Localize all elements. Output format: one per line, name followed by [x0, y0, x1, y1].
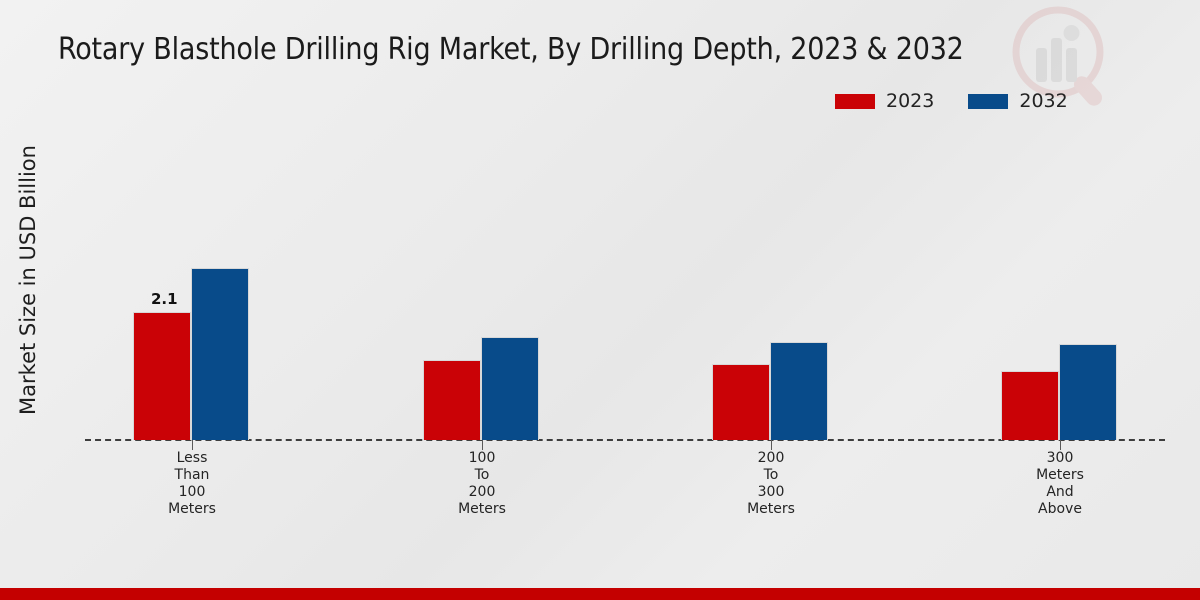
category-label-0-line-2: 100 [117, 484, 267, 501]
chart-figure: Rotary Blasthole Drilling Rig Market, By… [0, 0, 1200, 600]
bar-2032-cat2[interactable] [770, 342, 828, 440]
axis-tick-3 [1060, 440, 1061, 450]
category-label-3-line-2: And [985, 484, 1135, 501]
category-label-2-line-3: Meters [696, 501, 846, 518]
category-label-1-line-1: To [407, 467, 557, 484]
category-label-1-line-0: 100 [407, 450, 557, 467]
category-label-1-line-3: Meters [407, 501, 557, 518]
bars-container [712, 342, 828, 440]
category-label-2-line-1: To [696, 467, 846, 484]
axis-tick-1 [482, 440, 483, 450]
category-label-3: 300 Meters And Above [985, 450, 1135, 518]
axis-tick-0 [192, 440, 193, 450]
bar-2032-cat0[interactable] [191, 268, 249, 440]
category-label-3-line-3: Above [985, 501, 1135, 518]
category-label-0-line-1: Than [117, 467, 267, 484]
category-label-2-line-0: 200 [696, 450, 846, 467]
category-label-3-line-1: Meters [985, 467, 1135, 484]
category-label-0: Less Than 100 Meters [117, 450, 267, 518]
bars-container [423, 337, 539, 440]
axis-tick-2 [771, 440, 772, 450]
category-label-1: 100 To 200 Meters [407, 450, 557, 518]
category-label-2: 200 To 300 Meters [696, 450, 846, 518]
bar-2023-cat1[interactable] [423, 360, 481, 440]
bar-2032-cat3[interactable] [1059, 344, 1117, 440]
footer-accent-bar [0, 588, 1200, 600]
bar-2023-cat0[interactable] [133, 312, 191, 440]
bar-value-label-cat0: 2.1 [151, 290, 178, 308]
category-label-0-line-0: Less [117, 450, 267, 467]
category-label-3-line-0: 300 [985, 450, 1135, 467]
bar-2023-cat2[interactable] [712, 364, 770, 440]
bar-2032-cat1[interactable] [481, 337, 539, 440]
plot-area: 2.1 Less Than 100 Meters 100 To 200 Mete… [0, 0, 1200, 600]
category-label-0-line-3: Meters [117, 501, 267, 518]
category-label-2-line-2: 300 [696, 484, 846, 501]
bar-2023-cat3[interactable] [1001, 371, 1059, 440]
category-label-1-line-2: 200 [407, 484, 557, 501]
bars-container [1001, 344, 1117, 440]
